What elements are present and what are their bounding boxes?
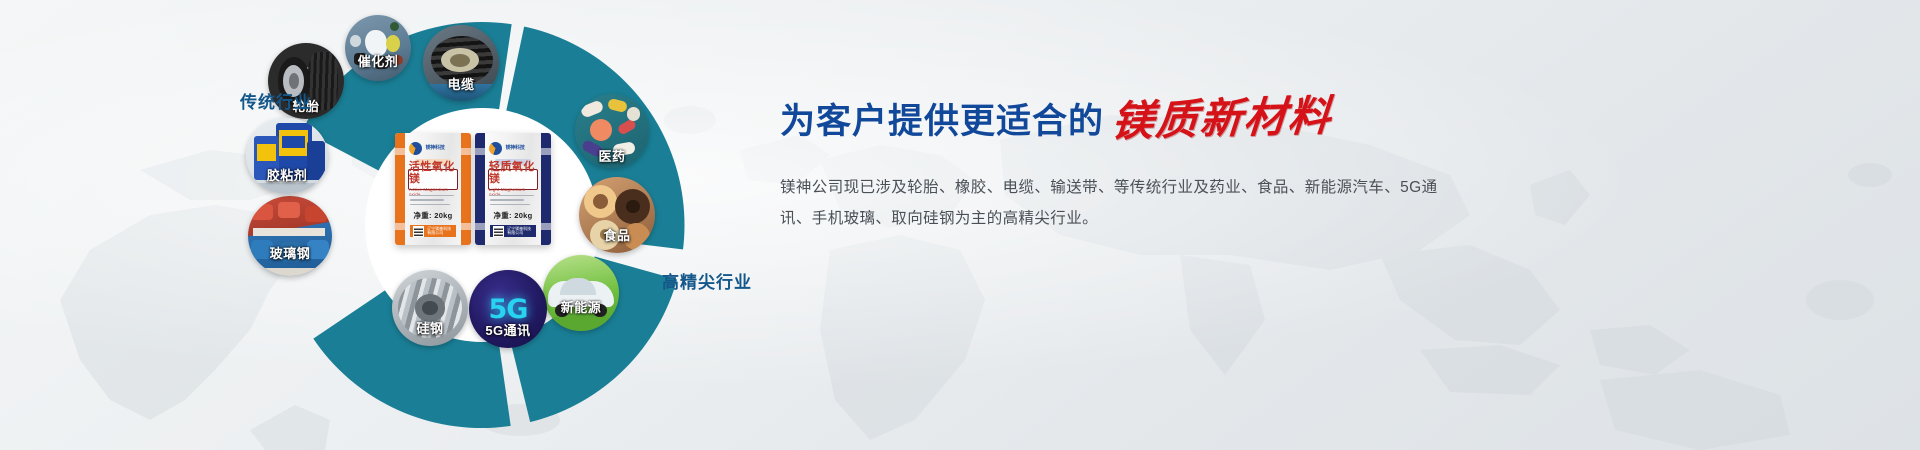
bag-weight: 净重: 20kg — [395, 210, 471, 221]
bag-title-box: 轻质氧化镁 Light Magnesium oxide — [488, 169, 538, 190]
callout-traditional-industries: 传统行业 — [240, 88, 312, 113]
bag-title-cn: 轻质氧化镁 — [489, 162, 537, 185]
bag-side-left — [475, 133, 485, 245]
catalyst-icon — [345, 15, 411, 81]
bag-side-right — [541, 133, 551, 245]
fiveg-icon: 5G — [469, 270, 547, 348]
banner-copy: 为客户提供更适合的 镁质新材料 镁神公司现已涉及轮胎、橡胶、电缆、输送带、等传统… — [780, 98, 1500, 234]
bag-brand-text: 镁神科技 — [505, 146, 524, 151]
bag-brand-logo: 镁神科技 — [409, 141, 456, 156]
pharma-icon — [575, 94, 649, 168]
fiberglass-icon — [248, 196, 332, 276]
wheel-node-5g[interactable]: 5G — [469, 270, 547, 348]
cable-icon — [423, 25, 499, 101]
industry-wheel-diagram: 镁神科技 活性氧化镁 Active Magnesium oxide 净重: 20… — [232, 0, 732, 450]
banner-paragraph: 镁神公司现已涉及轮胎、橡胶、电缆、输送带、等传统行业及药业、食品、新能源汽车、5… — [780, 172, 1440, 234]
wheel-node-silicon-steel[interactable] — [392, 270, 468, 346]
wheel-node-fiberglass[interactable] — [248, 196, 332, 276]
wheel-node-cable[interactable] — [423, 25, 499, 101]
bag-title-cn: 活性氧化镁 — [409, 162, 457, 185]
bag-weight: 净重: 20kg — [475, 210, 551, 221]
bag-side-left — [395, 133, 405, 245]
wheel-node-pharma[interactable] — [575, 94, 649, 168]
headline-blue-text: 为客户提供更适合的 — [780, 105, 1104, 140]
qr-code-icon — [413, 226, 424, 237]
wheel-node-new-energy[interactable] — [543, 255, 619, 331]
bag-footer: 辽宁镁神科技有限公司 — [410, 225, 456, 237]
bag-side-right — [461, 133, 471, 245]
callout-hightech-industries: 高精尖行业 — [662, 268, 752, 293]
bag-brand-logo: 镁神科技 — [489, 141, 536, 156]
food-icon — [579, 177, 655, 253]
silicon-steel-icon — [392, 270, 468, 346]
adhesive-icon — [246, 118, 328, 194]
bag-spec-lines — [410, 195, 456, 209]
qr-code-icon — [493, 226, 504, 237]
brand-mark-icon — [409, 142, 422, 155]
bag-spec-lines — [490, 195, 536, 209]
wheel-node-catalyst[interactable] — [345, 15, 411, 81]
bag-footer: 辽宁镁神科技有限公司 — [490, 225, 536, 237]
bag-brand-text: 镁神科技 — [425, 146, 444, 151]
bag-title-box: 活性氧化镁 Active Magnesium oxide — [408, 169, 458, 190]
bag-company: 辽宁镁神科技有限公司 — [507, 227, 533, 236]
wheel-node-adhesive[interactable] — [246, 118, 328, 194]
product-bag-light-mgo: 镁神科技 轻质氧化镁 Light Magnesium oxide 净重: 20k… — [475, 133, 551, 245]
banner-headline: 为客户提供更适合的 镁质新材料 — [780, 98, 1500, 140]
brand-mark-icon — [489, 142, 502, 155]
product-bag-active-mgo: 镁神科技 活性氧化镁 Active Magnesium oxide 净重: 20… — [395, 133, 471, 245]
wheel-node-food[interactable] — [579, 177, 655, 253]
bag-company: 辽宁镁神科技有限公司 — [427, 227, 453, 236]
new-energy-icon — [543, 255, 619, 331]
headline-red-text: 镁质新材料 — [1110, 95, 1334, 143]
